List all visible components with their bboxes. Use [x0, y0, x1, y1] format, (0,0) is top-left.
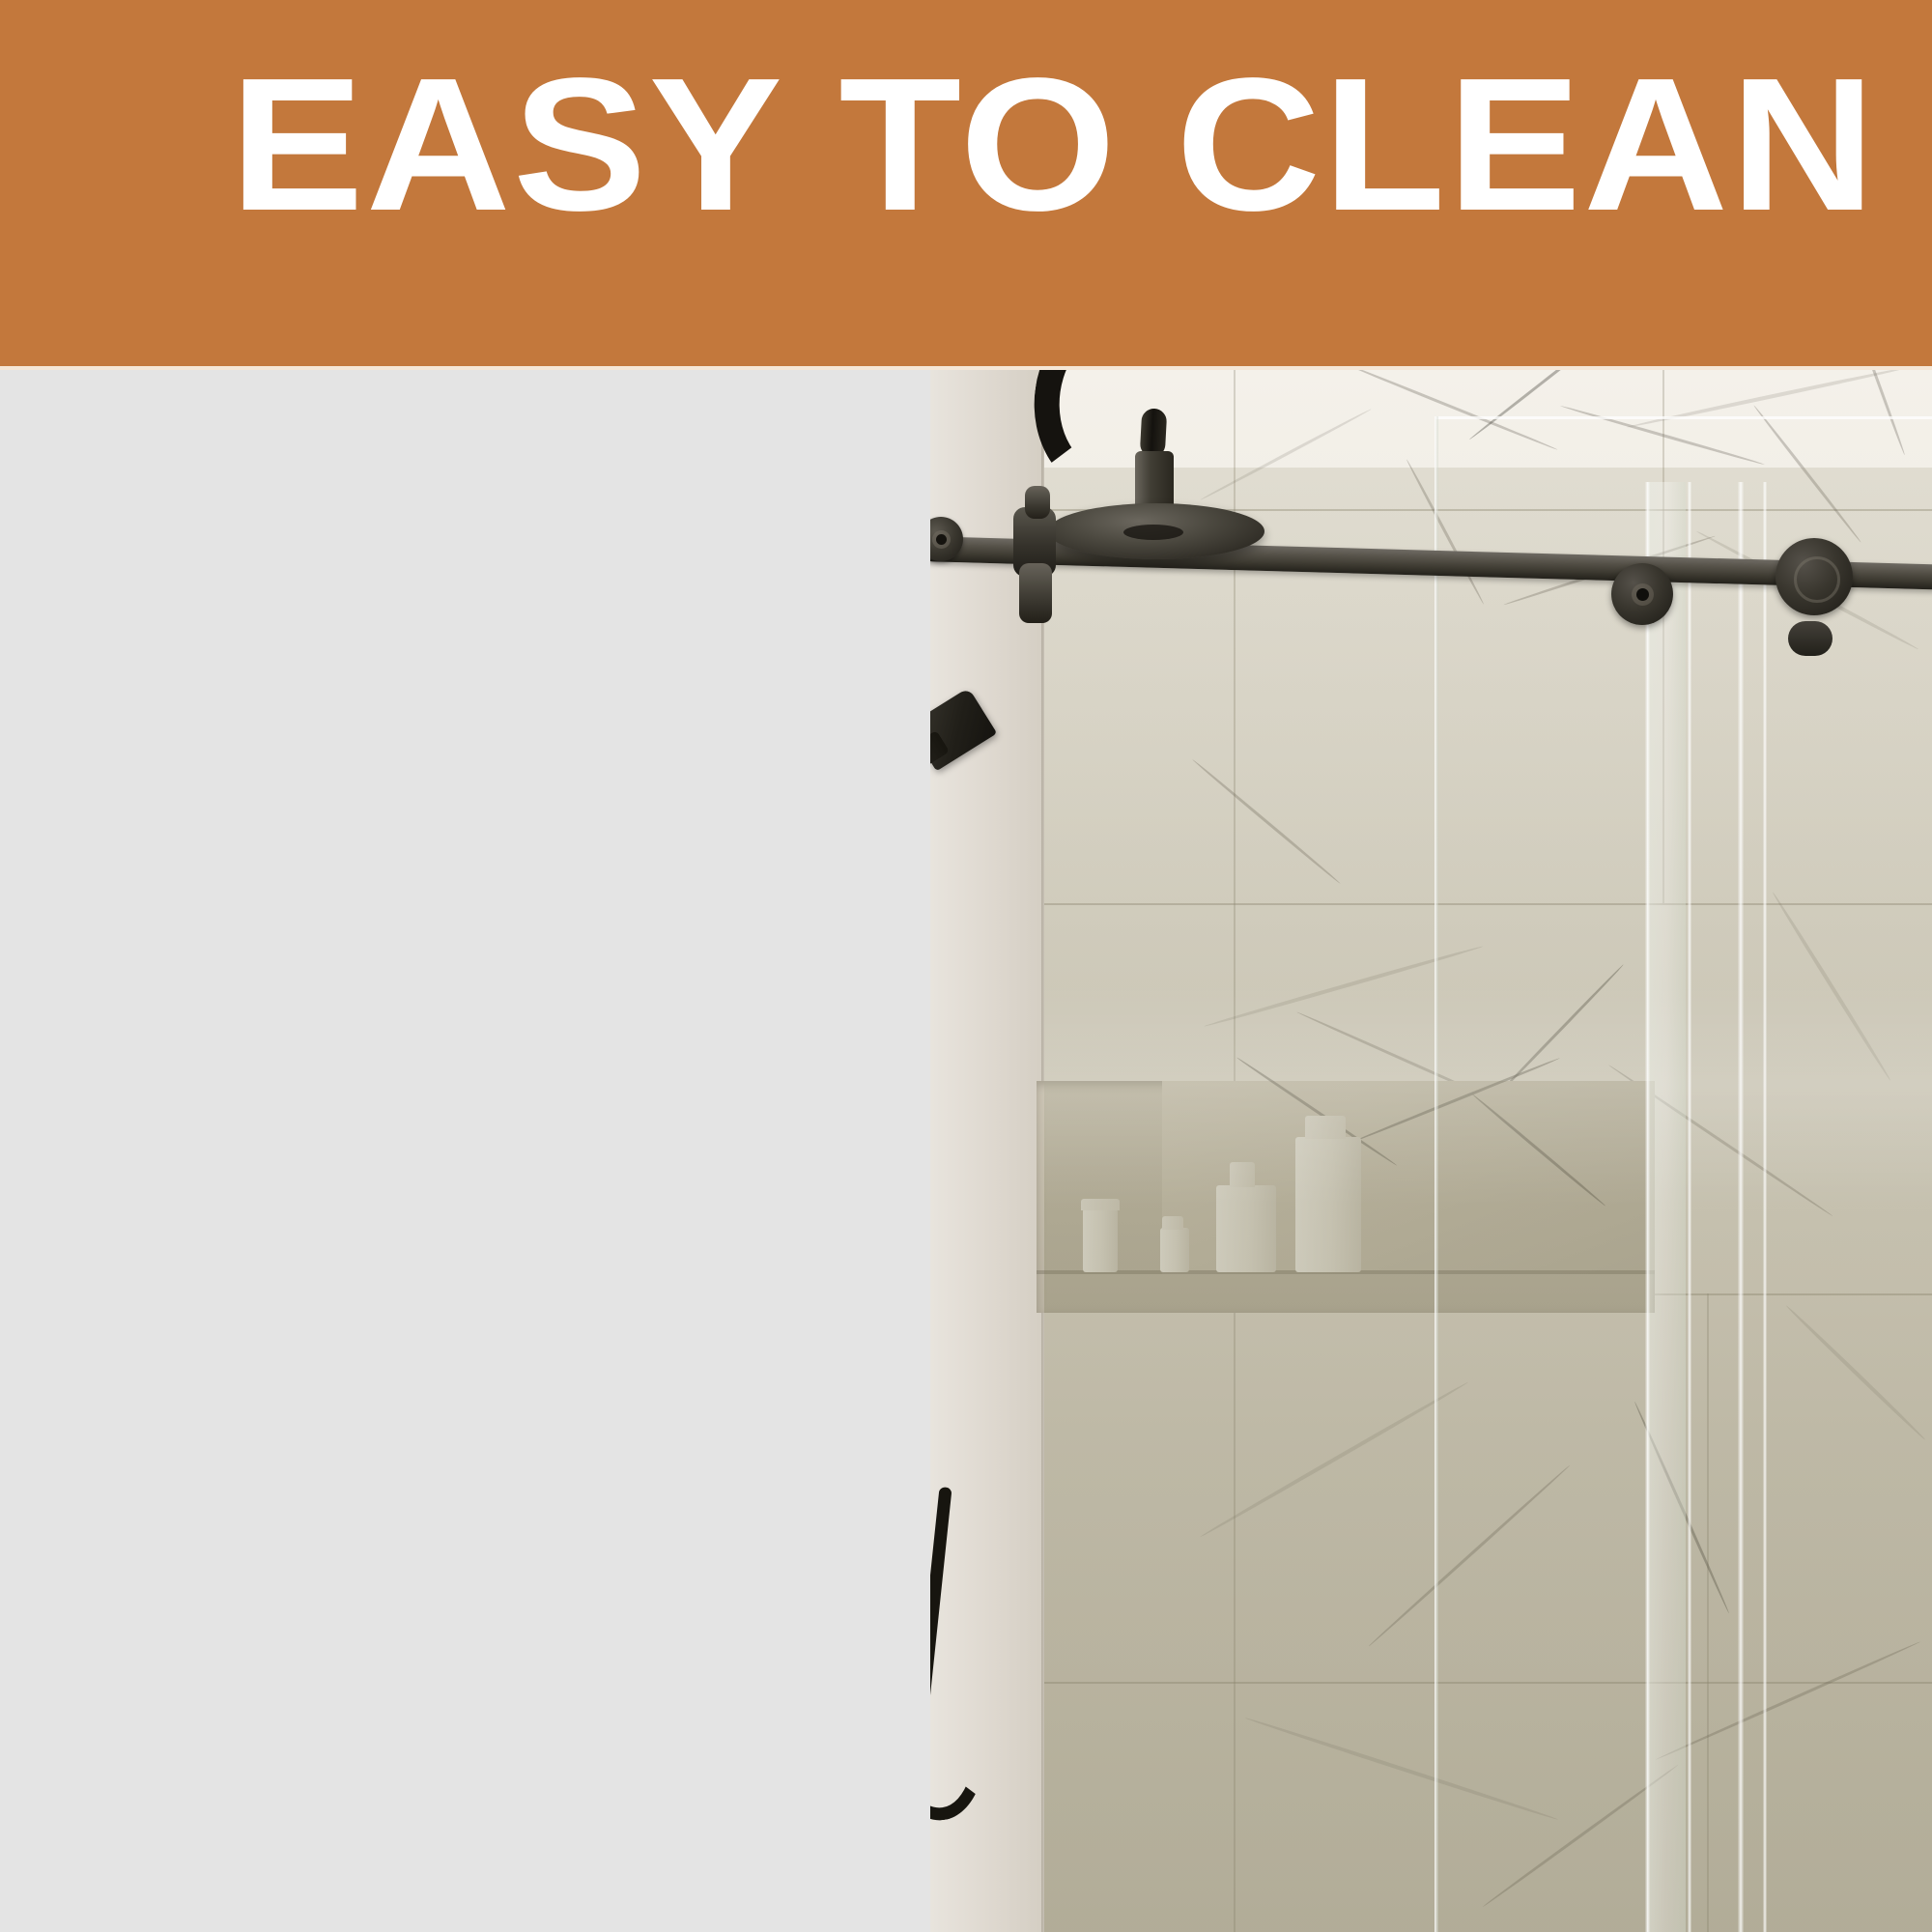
diverter-knob — [1025, 486, 1050, 519]
tile-grout-line — [1044, 1682, 1932, 1684]
banner-underline — [0, 366, 1932, 370]
glass-door-edge — [1738, 482, 1744, 1932]
glass-door-edge — [1647, 482, 1686, 1932]
diverter-stem — [1019, 563, 1052, 623]
glass-door-edge — [1763, 482, 1767, 1932]
marble-vein — [1471, 1094, 1606, 1207]
marble-vein — [1627, 366, 1911, 429]
header-banner: EASY TO CLEAN — [0, 0, 1932, 366]
marble-vein — [1204, 945, 1483, 1029]
marble-vein — [1200, 408, 1372, 501]
marble-vein — [1245, 1717, 1559, 1822]
roller-wheel — [1611, 563, 1673, 625]
marble-vein — [1368, 1464, 1571, 1648]
rain-shower-stem — [1135, 451, 1174, 511]
glass-door-edge — [1688, 482, 1691, 1932]
shower-head-outlet — [1123, 525, 1183, 540]
banner-title: EASY TO CLEAN — [230, 50, 1877, 240]
toiletry-bottle-cap — [1305, 1116, 1346, 1139]
feature-text-panel — [0, 366, 930, 1932]
marble-vein — [1191, 758, 1341, 885]
toiletry-bottle — [1295, 1137, 1361, 1272]
marble-vein — [1406, 459, 1485, 606]
marble-vein — [1199, 1380, 1468, 1538]
marble-vein — [1342, 366, 1558, 451]
marble-vein — [1353, 1057, 1560, 1143]
toiletry-bottle — [1160, 1228, 1189, 1272]
rain-shower-head — [1048, 503, 1264, 559]
rain-shower-arm — [1140, 408, 1168, 457]
recessed-niche — [1037, 1081, 1655, 1313]
product-photo — [930, 366, 1932, 1932]
glass-panel-left-edge — [1435, 416, 1438, 1932]
tile-grout-line — [1707, 1293, 1709, 1932]
product-feature-card: EASY TO CLEAN Exclusive Glass Protection… — [0, 0, 1932, 1932]
marble-vein — [1771, 891, 1891, 1081]
toiletry-bottle — [1083, 1208, 1118, 1272]
marble-vein — [1785, 1304, 1927, 1441]
roller-wheel — [1776, 538, 1853, 615]
roller-bracket — [1788, 621, 1833, 656]
marble-vein — [1854, 366, 1906, 455]
glass-door-edge — [1645, 482, 1650, 1932]
glass-panel-top-edge — [1435, 416, 1932, 419]
marble-vein — [1655, 1640, 1920, 1761]
marble-vein — [1752, 405, 1861, 544]
tile-grout-line — [1044, 903, 1932, 905]
toiletry-bottle — [1216, 1185, 1276, 1272]
marble-vein — [1468, 366, 1615, 440]
toiletry-bottle-cap — [1162, 1216, 1183, 1230]
toiletry-bottle-cap — [1230, 1162, 1255, 1187]
toiletry-bottle-cap — [1081, 1199, 1120, 1210]
